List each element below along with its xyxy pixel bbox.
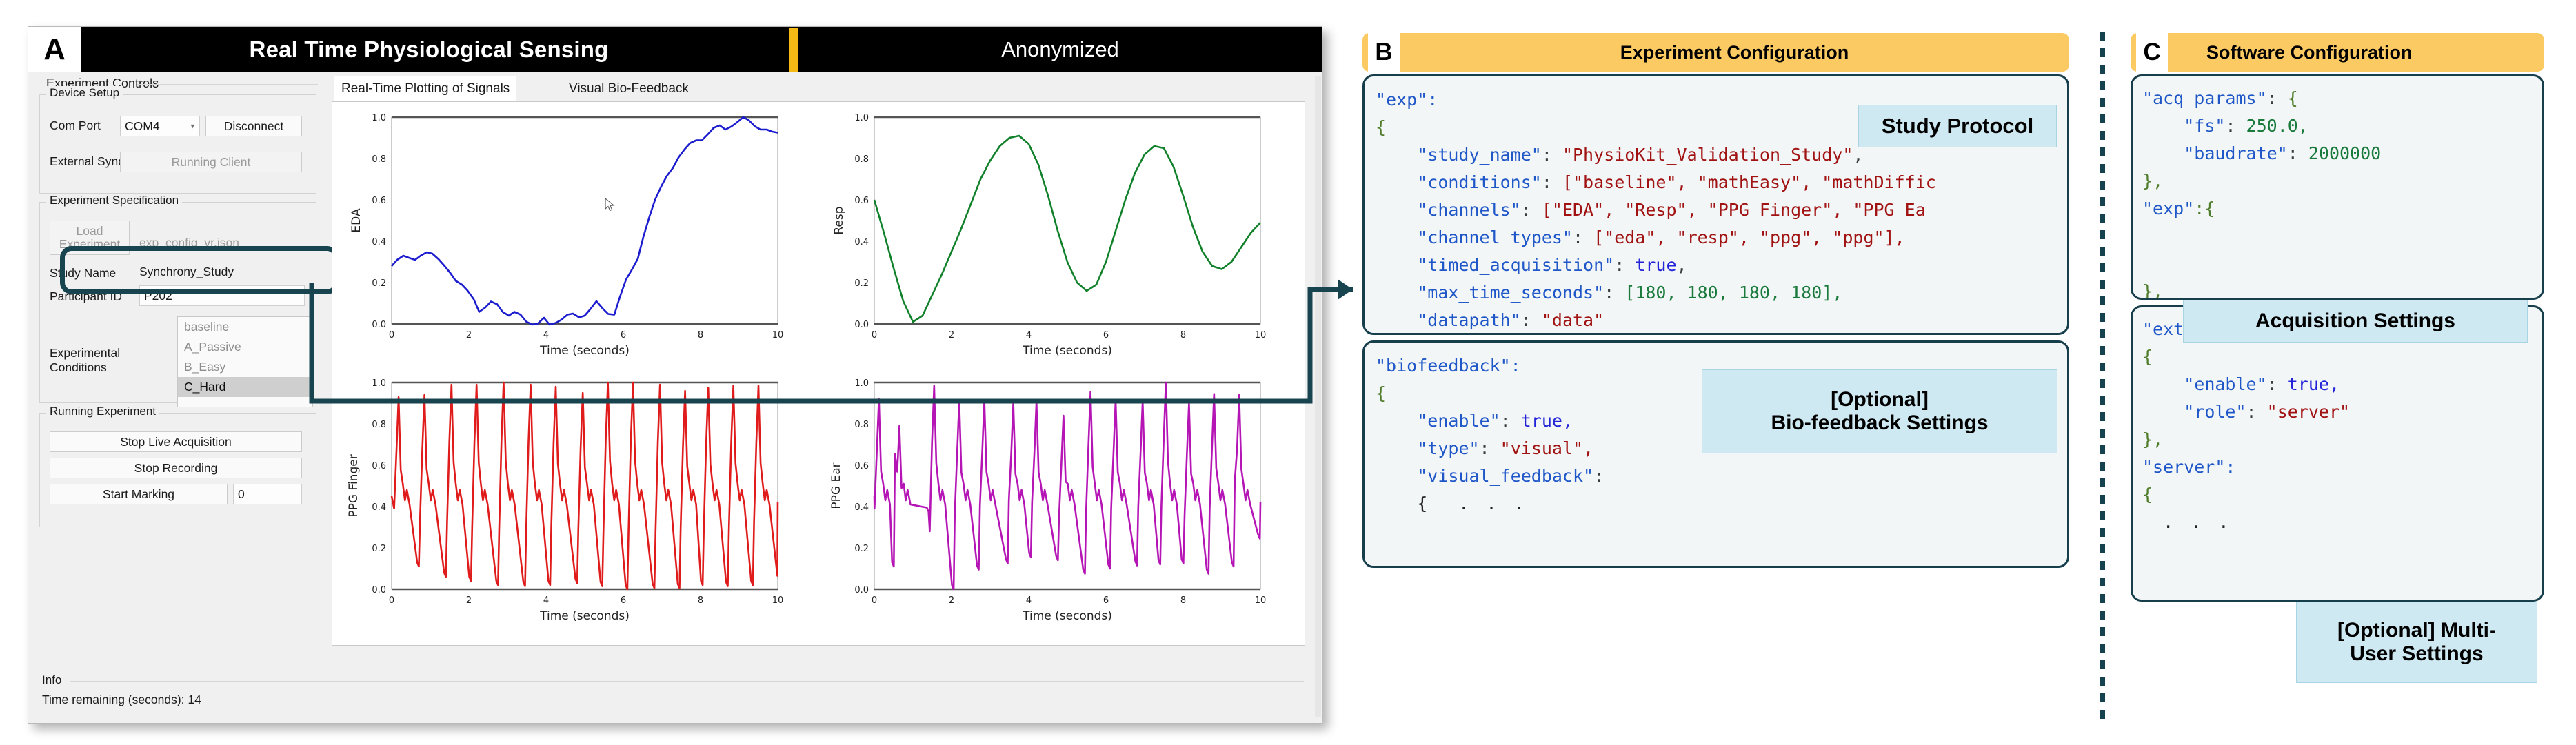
condition-option-c-hard[interactable]: C_Hard: [178, 377, 312, 397]
experiment-controls-column: Experiment Controls Device Setup Com Por…: [34, 76, 323, 669]
panel-b-badge: B: [1368, 33, 1400, 72]
svg-text:1.0: 1.0: [854, 113, 869, 123]
svg-text:Resp: Resp: [832, 206, 846, 234]
code-brace-close-2: },: [2142, 281, 2163, 300]
running-experiment-label: Running Experiment: [46, 405, 159, 418]
callout-acquisition-settings: Acquisition Settings: [2183, 300, 2528, 343]
chart-ppg-finger-svg: 1.0 0.8 0.6 0.4 0.2 0.0 0 2 4 6 8 10 Tim…: [332, 367, 819, 643]
svg-text:0.6: 0.6: [372, 196, 386, 206]
callout-multi-line2: User Settings: [2337, 642, 2496, 666]
code-fs-key: "fs": [2184, 116, 2225, 136]
chart-ppg-ear-svg: 1.0 0.8 0.6 0.4 0.2 0.0 0 2 4 6 8 10 Tim…: [815, 367, 1302, 643]
code-sync-enable-value: true,: [2288, 374, 2339, 394]
chart-resp-svg: 1.0 0.8 0.6 0.4 0.2 0.0 0 2 4 6 8 10 Tim…: [815, 102, 1302, 374]
svg-text:10: 10: [772, 330, 784, 340]
svg-text:6: 6: [1103, 595, 1109, 606]
svg-text:0.6: 0.6: [854, 196, 869, 206]
experimental-conditions-label-line2: Conditions: [50, 360, 120, 375]
config-file-name: exp_config_vr.json: [139, 236, 239, 250]
stop-live-acquisition-button[interactable]: Stop Live Acquisition: [50, 431, 302, 452]
code-sync-enable-key: "enable": [2184, 374, 2266, 394]
svg-text:8: 8: [698, 330, 703, 340]
code-brace-open: {: [1376, 383, 1386, 403]
svg-text:8: 8: [698, 595, 703, 606]
svg-text:Time (seconds): Time (seconds): [539, 609, 630, 623]
study-name-value: Synchrony_Study: [139, 265, 234, 279]
svg-text:4: 4: [543, 595, 549, 606]
experimental-conditions-list[interactable]: baseline A_Passive B_Easy C_Hard: [177, 316, 313, 407]
svg-text:0.6: 0.6: [372, 461, 386, 471]
device-setup-group: Device Setup Com Port COM4 ▾ Disconnect …: [39, 94, 316, 194]
svg-text:2: 2: [466, 330, 472, 340]
com-port-value: COM4: [125, 119, 160, 134]
code-max-time-value: [180, 180, 180, 180],: [1624, 283, 1842, 303]
panel-c-badge: C: [2136, 33, 2168, 72]
panel-b-title: Experiment Configuration: [1400, 33, 2069, 72]
code-timed-acq-value: true: [1635, 255, 1676, 275]
divider: [137, 84, 318, 85]
svg-text:10: 10: [772, 595, 784, 606]
code-fs-value: 250.0,: [2246, 116, 2308, 136]
svg-text:0.8: 0.8: [372, 154, 386, 165]
code-baudrate-value: 2000000: [2308, 143, 2381, 163]
code-visual-feedback-key: "visual_feedback": [1417, 466, 1593, 486]
biofeedback-code: "biofeedback": { "enable": true, "type":…: [1376, 352, 1604, 518]
code-colon: :: [1593, 466, 1604, 486]
code-bio-type-key: "type": [1417, 438, 1479, 458]
acq-params-code: "acq_params": { "fs": 250.0, "baudrate":…: [2142, 85, 2381, 300]
svg-text:0.0: 0.0: [372, 585, 386, 595]
vertical-scrollbar[interactable]: [1315, 76, 1321, 717]
code-conditions-value: ["baseline", "mathEasy", "mathDiffic: [1562, 172, 1936, 192]
svg-text:Time (seconds): Time (seconds): [1022, 344, 1112, 358]
chevron-down-icon: ▾: [190, 122, 194, 131]
code-brace-open-2: {: [2142, 484, 2153, 504]
tab-visual-bio-feedback[interactable]: Visual Bio-Feedback: [562, 76, 696, 101]
callout-biofeedback-line1: [Optional]: [1771, 388, 1988, 411]
plot-grid: 1.0 0.8 0.6 0.4 0.2 0.0 0 2 4 6 8 10 Tim…: [332, 101, 1305, 646]
com-port-select[interactable]: COM4 ▾: [120, 116, 200, 136]
svg-text:8: 8: [1180, 330, 1186, 340]
svg-text:0.4: 0.4: [854, 502, 869, 513]
svg-text:0: 0: [872, 595, 877, 606]
svg-text:1.0: 1.0: [854, 378, 869, 389]
external-sync-label: External Sync: [50, 154, 124, 169]
load-experiment-line2: Experiment: [59, 238, 121, 251]
svg-text:4: 4: [1026, 330, 1032, 340]
info-label: Info: [42, 673, 61, 687]
load-experiment-button[interactable]: Load Experiment: [50, 221, 130, 255]
title-divider: [789, 28, 798, 72]
chart-ppg-finger: 1.0 0.8 0.6 0.4 0.2 0.0 0 2 4 6 8 10 Tim…: [332, 367, 819, 640]
panel-separator: [2100, 32, 2105, 725]
svg-text:0.2: 0.2: [372, 278, 386, 289]
code-datapath-value: "data": [1542, 310, 1604, 330]
code-sync-role-value: "server": [2267, 402, 2350, 422]
device-setup-label: Device Setup: [46, 86, 123, 100]
plot-panel: Real-Time Plotting of Signals Visual Bio…: [332, 76, 1314, 669]
code-channel-types-value: ["eda", "resp", "ppg", "ppg"],: [1593, 227, 1905, 247]
svg-text:0.8: 0.8: [372, 420, 386, 430]
svg-text:0.0: 0.0: [372, 320, 386, 330]
disconnect-button[interactable]: Disconnect: [205, 116, 302, 136]
svg-text:Time (seconds): Time (seconds): [539, 344, 630, 358]
experimental-conditions-label-line1: Experimental: [50, 346, 120, 360]
app-title: Real Time Physiological Sensing: [81, 27, 777, 72]
panel-c-title: Software Configuration: [2206, 33, 2413, 72]
code-study-name-key: "study_name": [1417, 145, 1542, 165]
chart-ppg-ear: 1.0 0.8 0.6 0.4 0.2 0.0 0 2 4 6 8 10 Tim…: [815, 367, 1302, 640]
participant-id-input[interactable]: P202: [139, 285, 305, 306]
svg-text:4: 4: [1026, 595, 1032, 606]
code-brace-open: {: [2142, 347, 2153, 367]
code-ellipsis: . . .: [2163, 512, 2232, 532]
callout-biofeedback-settings: [Optional] Bio-feedback Settings: [1702, 369, 2057, 453]
acq-params-code-block: "acq_params": { "fs": 250.0, "baudrate":…: [2131, 74, 2544, 300]
code-channel-types-key: "channel_types": [1417, 227, 1573, 247]
code-exp-key: "exp": [2142, 198, 2194, 218]
code-channels-key: "channels": [1417, 200, 1521, 220]
svg-text:0: 0: [872, 330, 877, 340]
code-baudrate-key: "baudrate": [2184, 143, 2288, 163]
chart-resp: 1.0 0.8 0.6 0.4 0.2 0.0 0 2 4 6 8 10 Tim…: [815, 102, 1302, 374]
svg-text:4: 4: [543, 330, 549, 340]
physiokit-app-window: A Real Time Physiological Sensing Anonym…: [28, 26, 1322, 724]
experiment-specification-label: Experiment Specification: [46, 194, 182, 207]
svg-text:0.6: 0.6: [854, 461, 869, 471]
code-colon-brace: :{: [2194, 198, 2215, 218]
experimental-conditions-label: Experimental Conditions: [50, 346, 120, 375]
chart-eda: 1.0 0.8 0.6 0.4 0.2 0.0 0 2 4 6 8 10 Tim…: [332, 102, 819, 374]
code-study-name-value: "PhysioKit_Validation_Study": [1562, 145, 1853, 165]
condition-option-a-passive[interactable]: A_Passive: [178, 337, 312, 357]
info-group: Info Time remaining (seconds): 14: [34, 673, 1314, 719]
svg-text:0: 0: [389, 595, 394, 606]
code-timed-acq-key: "timed_acquisition": [1417, 255, 1614, 275]
svg-text:PPG Finger: PPG Finger: [347, 454, 361, 517]
svg-text:6: 6: [621, 330, 626, 340]
condition-option-b-easy[interactable]: B_Easy: [178, 357, 312, 377]
code-ellipsis: { . . .: [1417, 493, 1527, 513]
code-brace-close: },: [2142, 429, 2163, 449]
panel-b-header: B Experiment Configuration: [1362, 33, 2069, 72]
callout-multi-line1: [Optional] Multi-: [2337, 619, 2496, 642]
svg-text:8: 8: [1180, 595, 1186, 606]
code-channels-value: ["EDA", "Resp", "PPG Finger", "PPG Ea: [1542, 200, 1926, 220]
svg-text:0.2: 0.2: [372, 544, 386, 554]
svg-text:6: 6: [621, 595, 626, 606]
code-brace-open: {: [1376, 117, 1386, 137]
code-bio-type-value: "visual",: [1500, 438, 1593, 458]
svg-text:0.0: 0.0: [854, 585, 869, 595]
svg-text:0: 0: [389, 330, 394, 340]
code-bio-enable-value: true,: [1521, 411, 1573, 431]
exp-config-code: "exp": { "study_name": "PhysioKit_Valida…: [1376, 86, 1936, 335]
code-brace-close: },: [2142, 171, 2163, 191]
code-max-time-key: "max_time_seconds": [1417, 283, 1604, 303]
svg-text:0.4: 0.4: [372, 237, 386, 247]
load-experiment-line1: Load: [77, 225, 103, 238]
app-title-bar: A Real Time Physiological Sensing Anonym…: [28, 27, 1322, 72]
svg-text:0.8: 0.8: [854, 420, 869, 430]
callout-study-protocol: Study Protocol: [1858, 105, 2057, 147]
code-exp-key: "exp":: [1376, 90, 1438, 110]
time-remaining-text: Time remaining (seconds): 14: [42, 693, 201, 707]
code-biofeedback-key: "biofeedback":: [1376, 356, 1521, 376]
stop-recording-button[interactable]: Stop Recording: [50, 458, 302, 478]
participant-id-label: Participant ID: [50, 289, 122, 304]
code-conditions-key: "conditions": [1417, 172, 1542, 192]
svg-text:6: 6: [1103, 330, 1109, 340]
code-bio-enable-key: "enable": [1417, 411, 1500, 431]
com-port-label: Com Port: [50, 119, 101, 133]
svg-text:PPG Ear: PPG Ear: [829, 462, 843, 509]
panel-c-header: C Software Configuration: [2131, 33, 2544, 72]
svg-text:0.4: 0.4: [854, 237, 869, 247]
svg-text:0.2: 0.2: [854, 278, 869, 289]
code-brace-open: {: [2288, 88, 2298, 108]
svg-text:2: 2: [466, 595, 472, 606]
svg-text:0.8: 0.8: [854, 154, 869, 165]
svg-text:EDA: EDA: [350, 208, 363, 233]
external-sync-status[interactable]: Running Client: [120, 152, 302, 172]
svg-text:10: 10: [1255, 595, 1267, 606]
anonymized-label: Anonymized: [798, 27, 1322, 72]
code-datapath-key: "datapath": [1417, 310, 1521, 330]
callout-multi-user-settings: [Optional] Multi- User Settings: [2296, 602, 2537, 683]
svg-text:2: 2: [949, 595, 954, 606]
panel-a-badge: A: [28, 27, 81, 72]
svg-text:2: 2: [949, 330, 954, 340]
running-experiment-group: Running Experiment Stop Live Acquisition…: [39, 413, 316, 527]
divider: [70, 681, 1304, 682]
code-acq-params-key: "acq_params": [2142, 88, 2267, 108]
svg-text:1.0: 1.0: [372, 113, 386, 123]
callout-biofeedback-line2: Bio-feedback Settings: [1771, 411, 1988, 435]
condition-option-baseline[interactable]: baseline: [178, 317, 312, 337]
svg-text:0.4: 0.4: [372, 502, 386, 513]
chart-eda-svg: 1.0 0.8 0.6 0.4 0.2 0.0 0 2 4 6 8 10 Tim…: [332, 102, 819, 374]
code-server-key: "server":: [2142, 457, 2235, 477]
svg-text:1.0: 1.0: [372, 378, 386, 389]
svg-text:0.0: 0.0: [854, 320, 869, 330]
external-sync-code-block: "external_sync": { "enable": true, "role…: [2131, 305, 2544, 602]
code-sync-role-key: "role": [2184, 402, 2246, 422]
start-marking-button[interactable]: Start Marking: [50, 484, 228, 504]
marker-count-input[interactable]: 0: [233, 484, 302, 504]
tab-real-time-plotting[interactable]: Real-Time Plotting of Signals: [334, 76, 516, 101]
svg-text:0.2: 0.2: [854, 544, 869, 554]
svg-text:10: 10: [1255, 330, 1267, 340]
study-name-label: Study Name: [50, 266, 116, 280]
external-sync-code: "external_sync": { "enable": true, "role…: [2142, 316, 2350, 536]
tab-bar: Real-Time Plotting of Signals Visual Bio…: [334, 76, 1317, 101]
svg-text:Time (seconds): Time (seconds): [1022, 609, 1112, 623]
